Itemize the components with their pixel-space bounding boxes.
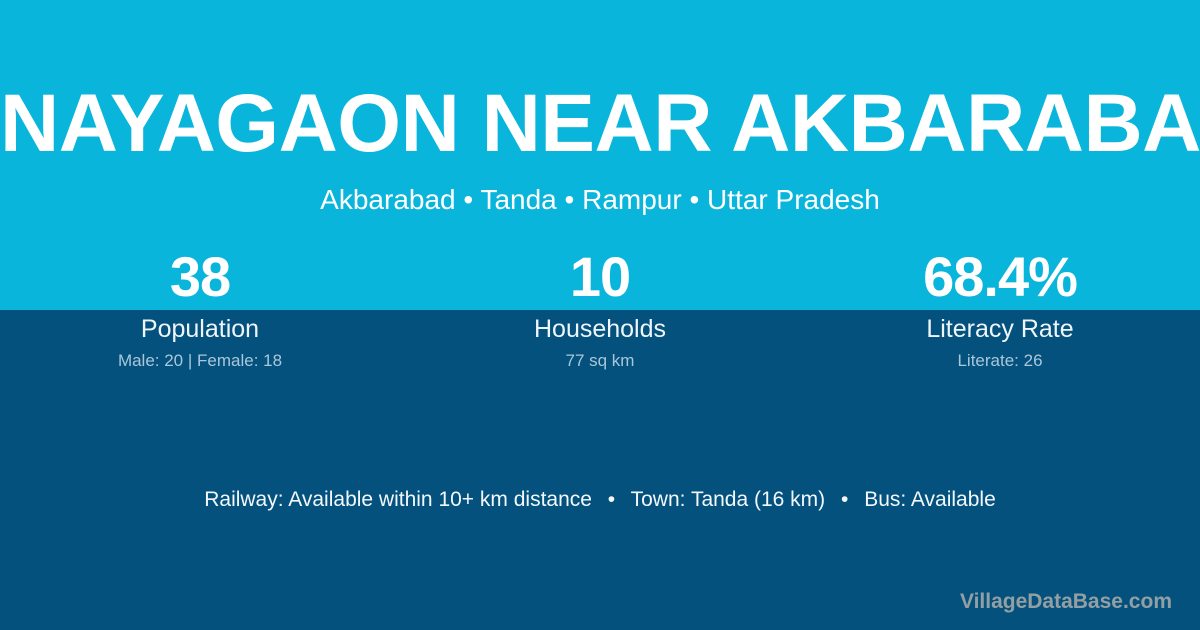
stat-value: 10 [400,244,800,310]
stat-value: 68.4% [800,244,1200,310]
stats-row: 38 Population Male: 20 | Female: 18 10 H… [0,244,1200,384]
stat-label: Population [0,314,400,344]
page-title: Nayagaon Near Akbarabad [0,84,1200,164]
site-watermark: VillageDataBase.com [960,588,1172,616]
stat-literacy-rate: 68.4% Literacy Rate Literate: 26 [800,244,1200,384]
infrastructure-line: Railway: Available within 10+ km distanc… [0,484,1200,516]
stat-sublabel: 77 sq km [400,350,800,372]
breadcrumb: Akbarabad • Tanda • Rampur • Uttar Prade… [0,182,1200,218]
infra-railway: Railway: Available within 10+ km distanc… [204,488,592,511]
stat-sublabel: Literate: 26 [800,350,1200,372]
stat-label: Literacy Rate [800,314,1200,344]
village-summary-card: Nayagaon Near Akbarabad Akbarabad • Tand… [0,0,1200,630]
stat-households: 10 Households 77 sq km [400,244,800,384]
stat-value: 38 [0,244,400,310]
stat-sublabel: Male: 20 | Female: 18 [0,350,400,372]
infra-separator-1: • [598,484,625,516]
stat-label: Households [400,314,800,344]
infra-bus: Bus: Available [864,488,996,511]
stat-population: 38 Population Male: 20 | Female: 18 [0,244,400,384]
infra-separator-2: • [831,484,858,516]
infra-town: Town: Tanda (16 km) [631,488,826,511]
